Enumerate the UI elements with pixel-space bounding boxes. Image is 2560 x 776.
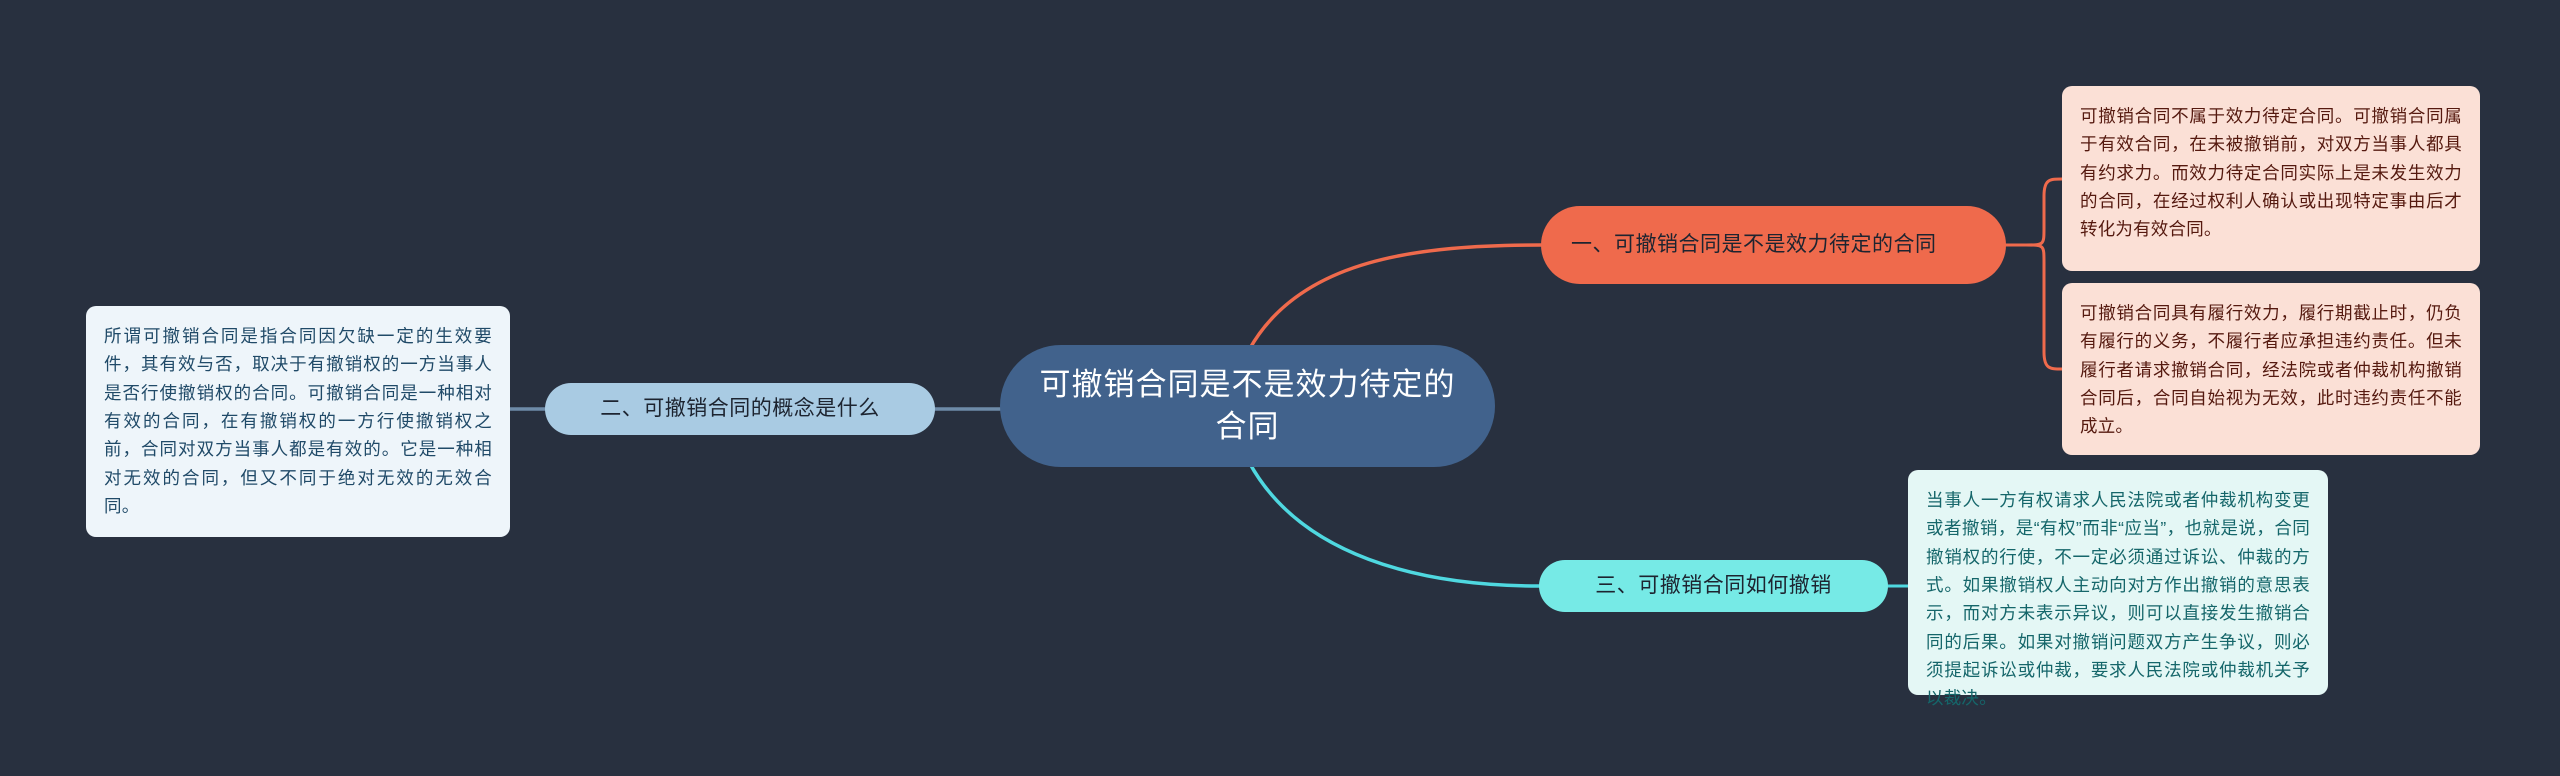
branch-node-1[interactable]: 一、可撤销合同是不是效力待定的合同	[1541, 206, 2006, 284]
note-card-branch-3[interactable]: 当事人一方有权请求人民法院或者仲裁机构变更或者撤销，是“有权”而非“应当”，也就…	[1908, 470, 2328, 695]
connector-central-to-branch-3	[1249, 462, 1539, 586]
central-topic-node[interactable]: 可撤销合同是不是效力待定的合同	[1000, 345, 1495, 467]
connector-central-to-branch-1	[1249, 245, 1541, 350]
branch-node-3[interactable]: 三、可撤销合同如何撤销	[1539, 560, 1888, 612]
note-card-branch-1-second[interactable]: 可撤销合同具有履行效力，履行期截止时，仍负有履行的义务，不履行者应承担违约责任。…	[2062, 283, 2480, 455]
note-card-branch-2[interactable]: 所谓可撤销合同是指合同因欠缺一定的生效要件，其有效与否，取决于有撤销权的一方当事…	[86, 306, 510, 537]
connector-branch-1-to-note-2	[2026, 245, 2062, 369]
note-card-branch-1-first[interactable]: 可撤销合同不属于效力待定合同。可撤销合同属于有效合同，在未被撤销前，对双方当事人…	[2062, 86, 2480, 271]
mindmap-canvas: 可撤销合同是不是效力待定的合同 一、可撤销合同是不是效力待定的合同 二、可撤销合…	[0, 0, 2560, 776]
branch-node-2[interactable]: 二、可撤销合同的概念是什么	[545, 383, 935, 435]
connector-branch-1-to-note-1	[2006, 179, 2062, 245]
